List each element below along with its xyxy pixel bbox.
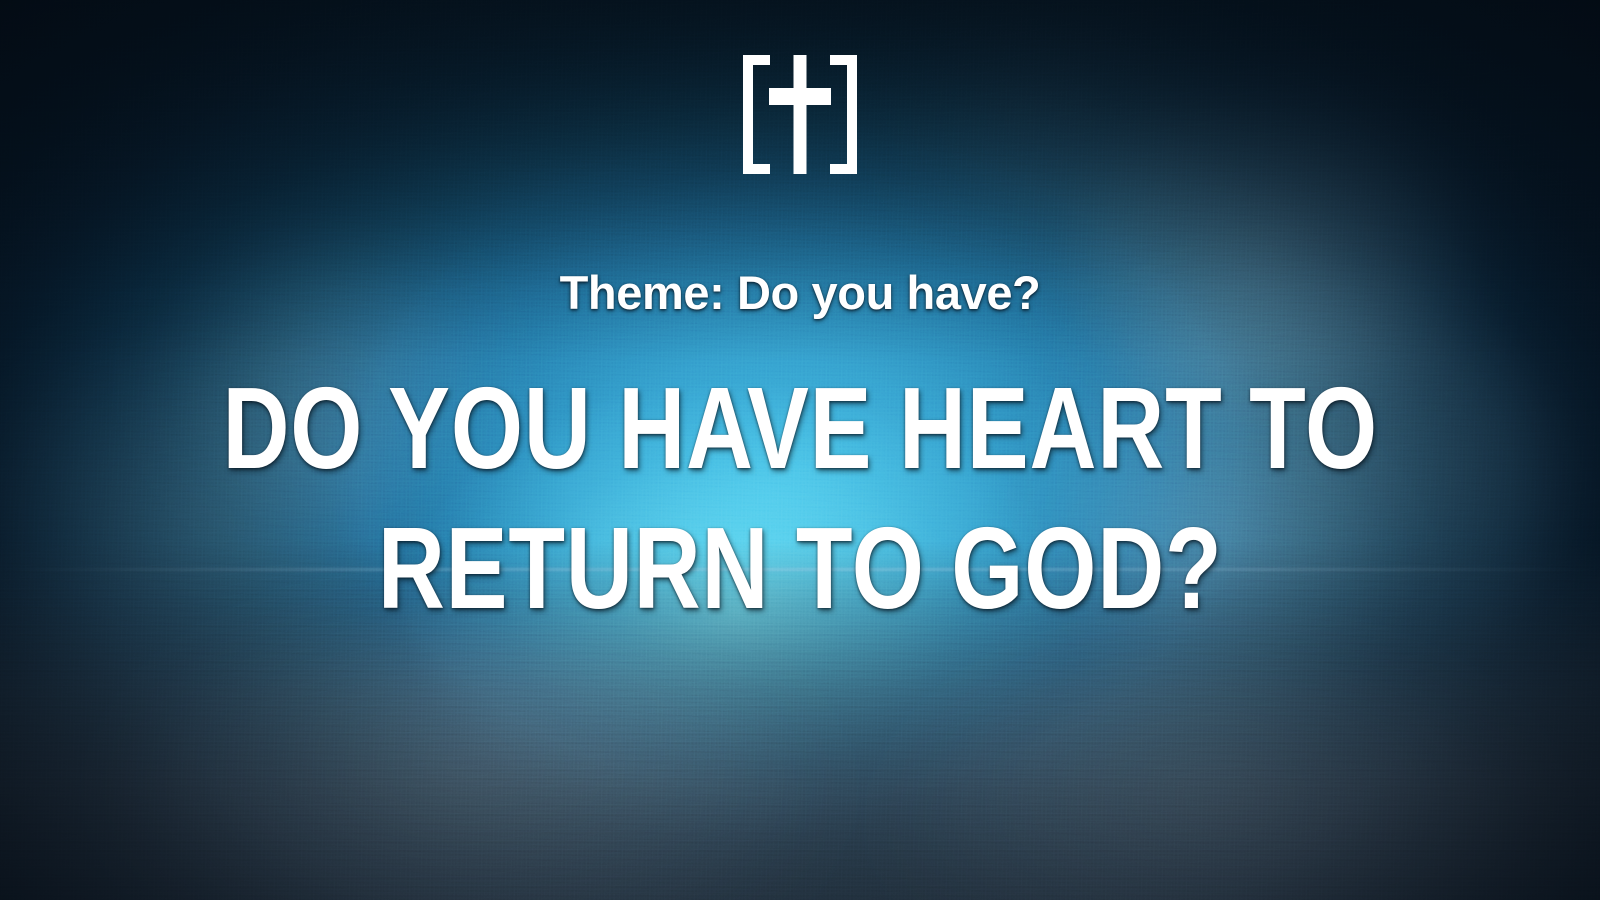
cross-in-brackets-logo-icon <box>730 52 870 177</box>
slide-content: Theme: Do you have? DO YOU HAVE HEART TO… <box>0 0 1600 900</box>
worship-slide: Theme: Do you have? DO YOU HAVE HEART TO… <box>0 0 1600 900</box>
headline-line-2: RETURN TO GOD? <box>222 512 1378 626</box>
headline-line-1: DO YOU HAVE HEART TO <box>222 372 1378 486</box>
headline: DO YOU HAVE HEART TO RETURN TO GOD? <box>222 372 1378 625</box>
theme-label: Theme: Do you have? <box>560 265 1041 320</box>
